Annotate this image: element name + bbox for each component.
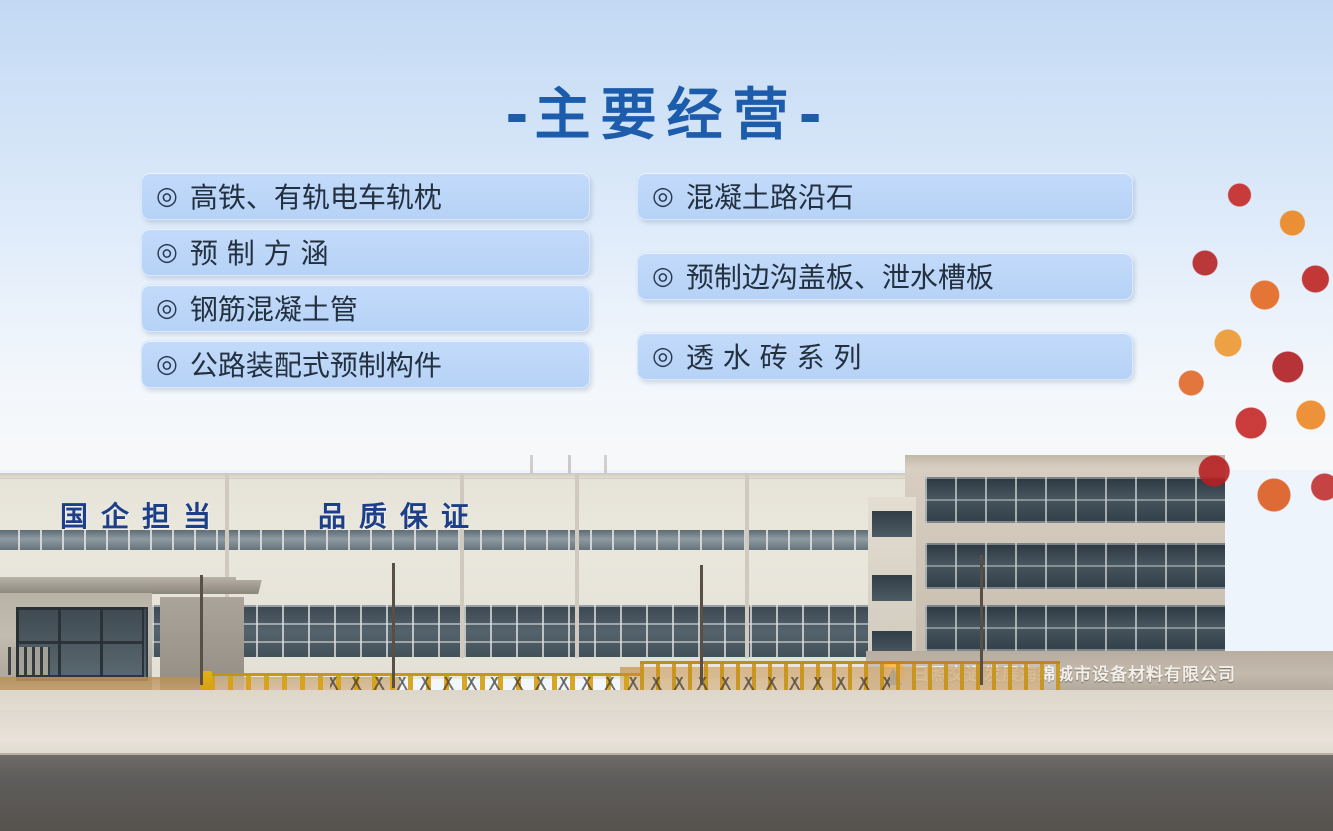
banner-stage: -主要经营- ◎ 高铁、有轨电车轨枕 ◎ 预 制 方 涵 ◎ 钢筋混凝土管 ◎ … <box>0 0 1333 831</box>
bare-tree <box>392 563 395 688</box>
product-label: 钢筋混凝土管 <box>190 288 358 328</box>
facade-slogan-left: 国企担当 <box>60 495 224 535</box>
facade-seam <box>745 473 749 658</box>
product-item[interactable]: ◎ 钢筋混凝土管 <box>141 284 590 332</box>
facade-slogan-right: 品质保证 <box>318 495 482 535</box>
office-window-grid <box>925 543 1225 589</box>
asphalt-road <box>0 755 1333 831</box>
bare-tree <box>700 565 703 685</box>
product-column-left: ◎ 高铁、有轨电车轨枕 ◎ 预 制 方 涵 ◎ 钢筋混凝土管 ◎ 公路装配式预制… <box>141 172 590 388</box>
product-label: 预制边沟盖板、泄水槽板 <box>686 256 994 296</box>
entrance-canopy-side <box>148 580 261 594</box>
double-circle-icon: ◎ <box>156 239 178 264</box>
product-item[interactable]: ◎ 透 水 砖 系 列 <box>637 332 1133 380</box>
product-item[interactable]: ◎ 预 制 方 涵 <box>141 228 590 276</box>
office-window-grid <box>925 477 1225 523</box>
product-column-right: ◎ 混凝土路沿石 ◎ 预制边沟盖板、泄水槽板 ◎ 透 水 砖 系 列 <box>637 172 1133 388</box>
factory-photo-scene: 国企担当 品质保证 日照交通发展海绵城市设备材料有限公司 <box>0 455 1333 831</box>
office-side-window <box>872 511 912 537</box>
product-item[interactable]: ◎ 高铁、有轨电车轨枕 <box>141 172 590 220</box>
product-item[interactable]: ◎ 混凝土路沿石 <box>637 172 1133 220</box>
product-columns: ◎ 高铁、有轨电车轨枕 ◎ 预 制 方 涵 ◎ 钢筋混凝土管 ◎ 公路装配式预制… <box>141 172 1133 388</box>
wall-vent-grille <box>8 647 50 675</box>
product-item[interactable]: ◎ 预制边沟盖板、泄水槽板 <box>637 252 1133 300</box>
bare-tree <box>200 575 203 685</box>
product-label: 混凝土路沿石 <box>686 176 854 216</box>
office-parapet <box>905 455 1225 467</box>
double-circle-icon: ◎ <box>652 183 674 208</box>
facade-seam <box>575 473 579 658</box>
product-label: 预 制 方 涵 <box>190 232 329 272</box>
double-circle-icon: ◎ <box>156 351 178 376</box>
bare-tree <box>980 555 983 685</box>
product-label: 公路装配式预制构件 <box>190 344 442 384</box>
double-circle-icon: ◎ <box>652 263 674 288</box>
double-circle-icon: ◎ <box>652 343 674 368</box>
office-window-grid <box>925 605 1225 651</box>
product-label: 透 水 砖 系 列 <box>686 336 862 376</box>
double-circle-icon: ◎ <box>156 183 178 208</box>
double-circle-icon: ◎ <box>156 295 178 320</box>
office-side-window <box>872 575 912 601</box>
sidewalk <box>0 710 1333 758</box>
product-label: 高铁、有轨电车轨枕 <box>190 176 442 216</box>
product-item[interactable]: ◎ 公路装配式预制构件 <box>141 340 590 388</box>
